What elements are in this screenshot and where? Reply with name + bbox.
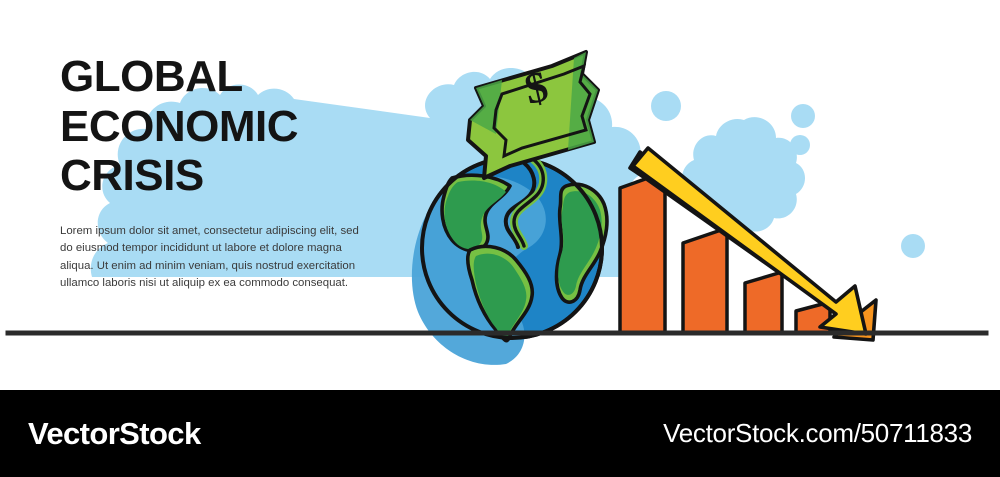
brand-url: VectorStock.com/50711833 [663, 418, 972, 449]
brand-wordmark: VectorStock [28, 416, 201, 452]
text-block: GLOBAL ECONOMIC CRISIS Lorem ipsum dolor… [60, 52, 380, 292]
body-paragraph: Lorem ipsum dolor sit amet, consectetur … [60, 223, 360, 292]
footer-bar: VectorStock VectorStock.com/50711833 [0, 390, 1000, 477]
page-title: GLOBAL ECONOMIC CRISIS [60, 52, 380, 201]
poster-canvas: $ GLOBAL ECONOMIC CRISIS Lorem ipsum dol… [0, 0, 1000, 477]
